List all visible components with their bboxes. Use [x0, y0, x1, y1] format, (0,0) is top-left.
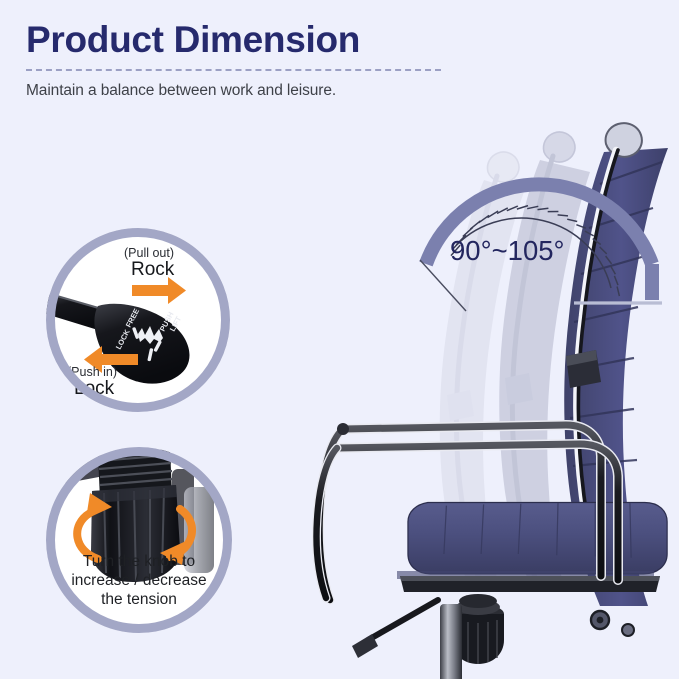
rock-label: Rock	[131, 259, 174, 281]
lock-hint-text: (Push in)	[67, 365, 117, 379]
infographic-canvas: Product Dimension Maintain a balance bet…	[0, 0, 679, 679]
tilt-lever-callout: FREE LOCK PUSH LIFT	[46, 228, 230, 412]
recline-angle-indicator: 90°~105°	[404, 140, 679, 320]
title-divider	[26, 69, 441, 71]
gas-cylinder-and-controls	[352, 594, 504, 679]
lock-label: Lock	[74, 378, 114, 400]
page-title: Product Dimension	[26, 20, 456, 60]
angle-arc-graphic	[404, 140, 679, 320]
tension-knob-callout: Turn the knob to increase / decrease the…	[46, 447, 232, 633]
angle-range-label: 90°~105°	[450, 235, 565, 267]
rock-arrow-icon	[132, 277, 186, 304]
tilt-lever	[352, 600, 438, 658]
header: Product Dimension Maintain a balance bet…	[26, 20, 456, 100]
page-subtitle: Maintain a balance between work and leis…	[26, 82, 456, 100]
caption-line-3: the tension	[54, 590, 224, 609]
rock-hint-text: (Pull out)	[124, 246, 174, 260]
caption-line-2: increase / decrease	[54, 571, 224, 590]
caption-line-1: Turn the knob to	[54, 552, 224, 571]
tension-knob-caption: Turn the knob to increase / decrease the…	[54, 552, 224, 610]
